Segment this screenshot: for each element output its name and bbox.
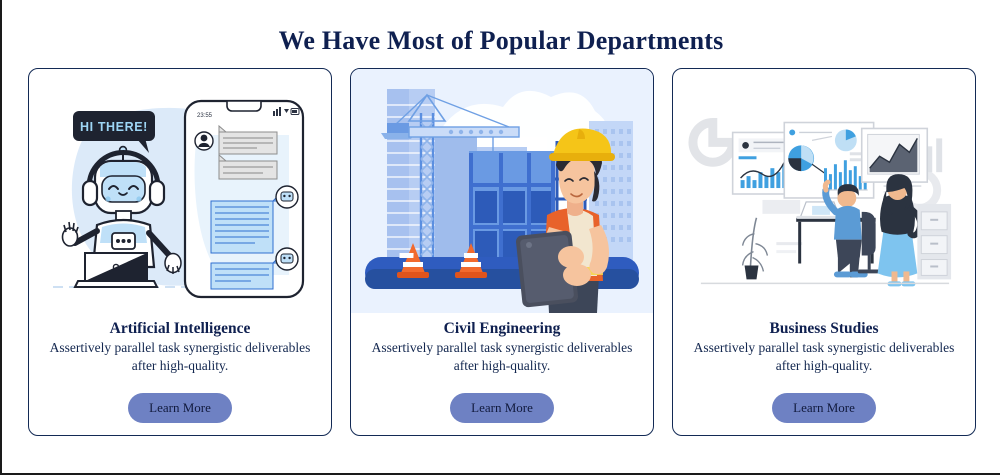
department-card-business-studies[interactable]: Business Studies Assertively parallel ta… (672, 68, 976, 436)
filing-cabinet-icon (917, 204, 951, 279)
card-title: Business Studies (764, 313, 885, 339)
plant-icon (743, 218, 768, 280)
construction-site-svg (351, 69, 653, 313)
learn-more-button[interactable]: Learn More (450, 393, 554, 423)
svg-text:23:55: 23:55 (197, 113, 213, 119)
department-card-artificial-intelligence[interactable]: HI THERE! 23:55 (28, 68, 332, 436)
business-analytics-illustration (673, 69, 975, 313)
card-title: Civil Engineering (438, 313, 567, 339)
card-description: Assertively parallel task synergistic de… (29, 339, 331, 375)
smartphone-icon: 23:55 (185, 101, 303, 297)
card-description: Assertively parallel task synergistic de… (673, 339, 975, 375)
chatbot-robot-svg: HI THERE! 23:55 (45, 75, 315, 313)
business-analytics-svg (685, 94, 963, 294)
departments-card-row: HI THERE! 23:55 (28, 68, 976, 436)
construction-site-illustration (351, 69, 653, 313)
learn-more-button[interactable]: Learn More (128, 393, 232, 423)
page-title: We Have Most of Popular Departments (2, 0, 1000, 56)
chatbot-robot-illustration: HI THERE! 23:55 (29, 69, 331, 313)
card-title: Artificial Intelligence (104, 313, 257, 339)
card-description: Assertively parallel task synergistic de… (351, 339, 653, 375)
department-card-civil-engineering[interactable]: Civil Engineering Assertively parallel t… (350, 68, 654, 436)
page-root: We Have Most of Popular Departments HI T… (0, 0, 1000, 475)
svg-text:HI THERE!: HI THERE! (80, 120, 148, 134)
learn-more-button[interactable]: Learn More (772, 393, 876, 423)
standing-woman-icon (878, 174, 921, 286)
